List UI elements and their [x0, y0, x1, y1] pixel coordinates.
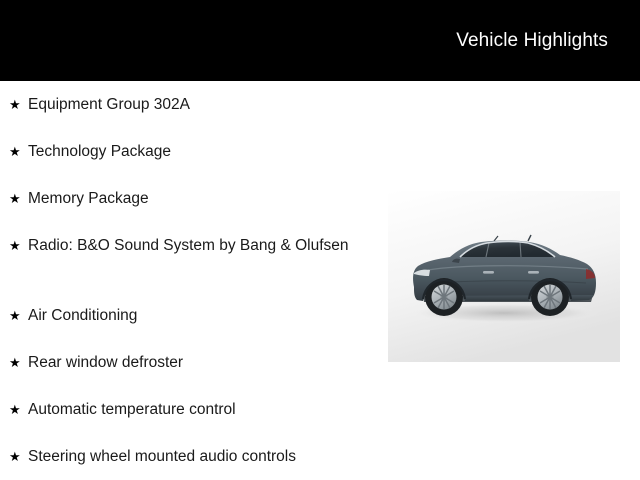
list-item-label: Rear window defroster	[28, 339, 372, 374]
star-icon: ★	[9, 128, 28, 164]
list-item: ★ Equipment Group 302A	[0, 81, 372, 128]
page-title: Vehicle Highlights	[456, 29, 608, 53]
list-item-label: Memory Package	[28, 175, 372, 210]
list-item: ★ Radio: B&O Sound System by Bang & Oluf…	[0, 222, 372, 292]
list-item-label: Steering wheel mounted audio controls	[28, 433, 372, 468]
vehicle-highlights-list: ★ Equipment Group 302A ★ Technology Pack…	[0, 81, 372, 480]
list-item-label: Radio: B&O Sound System by Bang & Olufse…	[28, 222, 372, 257]
list-item: ★ Automatic temperature control	[0, 386, 372, 433]
front-door-handle	[483, 271, 494, 274]
list-item: ★ Memory Package	[0, 175, 372, 222]
star-icon: ★	[9, 175, 28, 211]
star-icon: ★	[9, 222, 28, 258]
list-item-label: Automatic temperature control	[28, 386, 372, 421]
list-item-label: Air Conditioning	[28, 292, 372, 327]
star-icon: ★	[9, 386, 28, 422]
content-area: ★ Equipment Group 302A ★ Technology Pack…	[0, 81, 640, 480]
star-icon: ★	[9, 433, 28, 469]
list-item-label: Technology Package	[28, 128, 372, 163]
list-item: ★ Steering wheel mounted audio controls	[0, 433, 372, 480]
rear-door-handle	[528, 271, 539, 274]
list-item-label: Equipment Group 302A	[28, 81, 372, 116]
header-bar: Vehicle Highlights	[0, 0, 640, 81]
star-icon: ★	[9, 81, 28, 117]
star-icon: ★	[9, 292, 28, 328]
list-item: ★ Rear window defroster	[0, 339, 372, 386]
list-item: ★ Air Conditioning	[0, 292, 372, 339]
list-item: ★ Technology Package	[0, 128, 372, 175]
star-icon: ★	[9, 339, 28, 375]
vehicle-photo	[388, 191, 620, 362]
vehicle-photo-image	[388, 191, 620, 362]
